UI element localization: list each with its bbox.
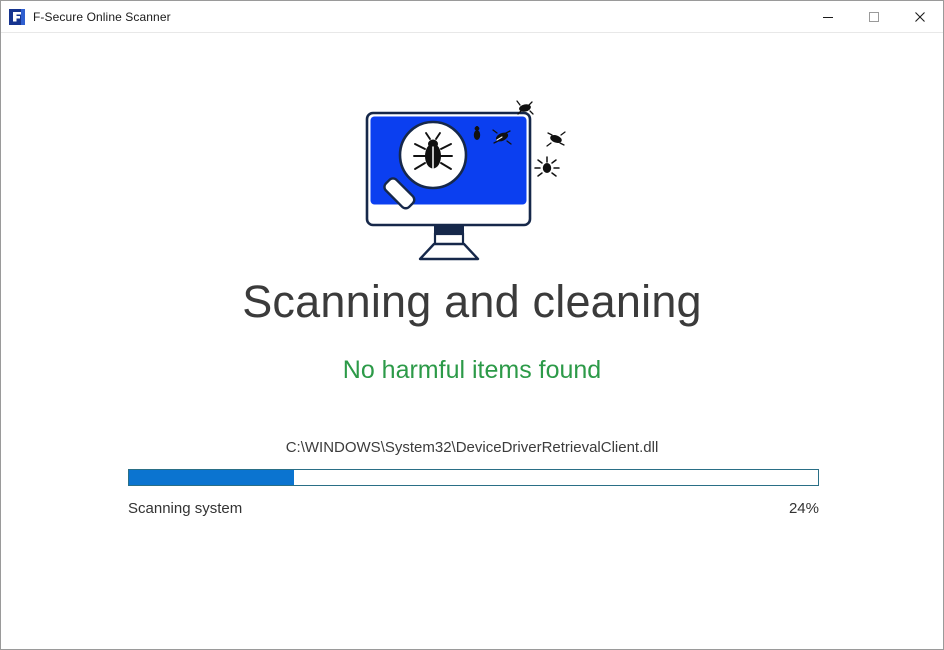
monitor-stand-base (420, 244, 478, 259)
f-secure-logo-icon (9, 9, 25, 25)
maximize-icon (868, 11, 880, 23)
page-title: Scanning and cleaning (1, 279, 943, 324)
window-title: F-Secure Online Scanner (33, 10, 171, 24)
bug-small-5-icon (535, 157, 559, 176)
scan-status-label: Scanning system (128, 500, 242, 517)
close-icon (914, 11, 926, 23)
current-file-path: C:\WINDOWS\System32\DeviceDriverRetrieva… (1, 440, 943, 455)
illustration-area (1, 99, 943, 264)
monitor-scan-bug-illustration (357, 99, 587, 264)
title-bar-left: F-Secure Online Scanner (1, 9, 171, 25)
main-content: Scanning and cleaning No harmful items f… (1, 33, 943, 649)
minimize-icon (822, 11, 834, 23)
minimize-button[interactable] (805, 1, 851, 32)
window-controls (805, 1, 943, 32)
scanner-window: F-Secure Online Scanner (0, 0, 944, 650)
close-button[interactable] (897, 1, 943, 32)
scan-percent-label: 24% (789, 500, 819, 517)
progress-bar-fill (129, 470, 294, 485)
maximize-button[interactable] (851, 1, 897, 32)
title-bar: F-Secure Online Scanner (1, 1, 943, 33)
progress-bar (128, 469, 819, 486)
scan-result-message: No harmful items found (1, 358, 943, 383)
bug-small-1-icon (474, 126, 480, 140)
bug-small-4-icon (547, 132, 565, 146)
progress-section: Scanning system 24% (128, 469, 819, 517)
progress-labels: Scanning system 24% (128, 500, 819, 517)
